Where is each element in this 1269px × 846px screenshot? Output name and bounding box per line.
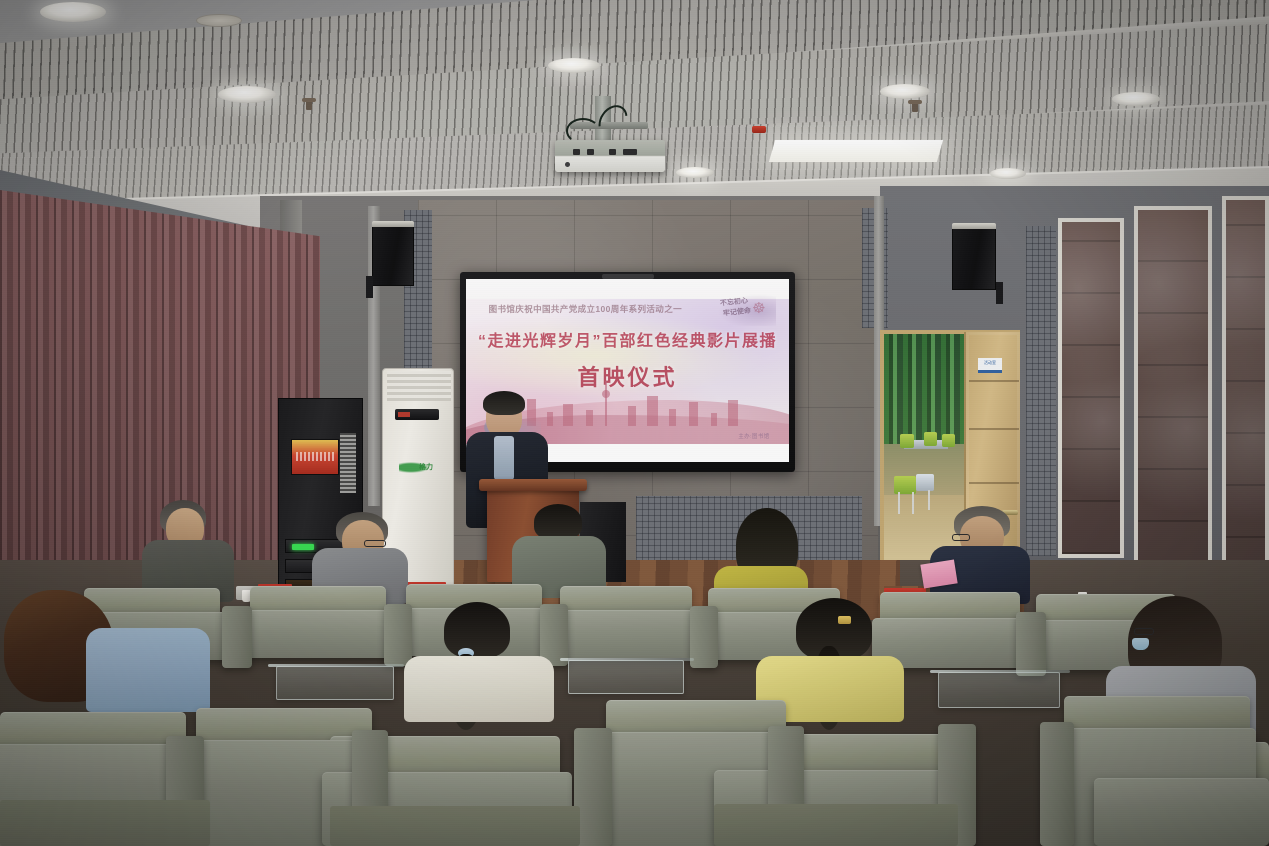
downlight-5 bbox=[1112, 92, 1160, 106]
door-groove-3 bbox=[969, 482, 1019, 484]
glass-side-table-3 bbox=[938, 672, 1060, 708]
corridor-chair-leg-1 bbox=[898, 492, 900, 514]
skyline-building-3 bbox=[547, 412, 553, 426]
ac-brand-mark: 格力 bbox=[399, 461, 433, 474]
projector-port-2 bbox=[587, 149, 594, 155]
corridor-chair-5 bbox=[916, 474, 934, 491]
slide-header-text: 图书馆庆祝中国共产党成立100周年系列活动之一 bbox=[489, 303, 728, 315]
corridor-chair-1 bbox=[900, 434, 914, 448]
projector-vga-port bbox=[623, 149, 637, 155]
attendee7-hair bbox=[444, 602, 510, 658]
downlight-1 bbox=[40, 2, 106, 22]
attendee8-hairclip bbox=[838, 616, 851, 624]
projector-port-1 bbox=[573, 149, 580, 155]
corridor-chair-3 bbox=[942, 434, 955, 447]
skyline-building-11 bbox=[728, 400, 738, 426]
decor-stone-panel-1 bbox=[1058, 218, 1124, 558]
downlight-4 bbox=[880, 84, 930, 99]
skyline-tv-tower bbox=[605, 381, 607, 426]
right-wall-speaker bbox=[952, 226, 996, 290]
slide-footer-text: 主办:图书馆 bbox=[738, 432, 769, 440]
downlight-6 bbox=[676, 167, 714, 178]
downlight-7 bbox=[990, 168, 1026, 179]
seat-base-r3-1 bbox=[0, 800, 210, 846]
presenter-shirt bbox=[494, 436, 514, 480]
corridor-chair-leg-2 bbox=[912, 492, 914, 514]
attendee9-glasses bbox=[1134, 628, 1154, 635]
attendee7-white-top bbox=[404, 656, 554, 722]
slide-title-text: “走进光辉岁月”百部红色经典影片展播 bbox=[466, 327, 789, 351]
ceiling-projector bbox=[555, 140, 665, 172]
seat-arm-r3-f bbox=[1040, 722, 1074, 846]
glass-table-rail-1 bbox=[268, 664, 404, 667]
seat-arm-r2-d bbox=[690, 606, 718, 668]
speaker-top-cap-right bbox=[952, 223, 996, 229]
seat-arm-r2-e bbox=[1016, 612, 1046, 676]
ac-display-panel bbox=[395, 409, 439, 420]
sprinkler-head-2 bbox=[912, 100, 918, 112]
seat-r2-4[interactable] bbox=[554, 610, 700, 658]
seat-base-r3-2 bbox=[330, 806, 580, 846]
projector-knob bbox=[565, 162, 570, 167]
skyline-building-6 bbox=[628, 406, 636, 426]
ceiling-vent bbox=[196, 14, 242, 27]
skyline-building-10 bbox=[711, 413, 717, 426]
seat-r2-2[interactable] bbox=[244, 610, 394, 658]
ceiling-panel-light bbox=[769, 140, 943, 162]
seat-arm-r2-b bbox=[384, 604, 412, 666]
fire-alarm-icon bbox=[752, 126, 766, 133]
corridor-green-partition bbox=[884, 334, 966, 444]
downlight-3 bbox=[548, 58, 600, 73]
glass-table-rail-2 bbox=[560, 658, 694, 661]
decor-stone-panel-2 bbox=[1134, 206, 1212, 578]
attendee6-denim-jacket bbox=[86, 628, 210, 712]
seat-r3-6[interactable] bbox=[1094, 778, 1269, 846]
attendee3-hair bbox=[534, 504, 582, 540]
attendee2-glasses bbox=[364, 540, 386, 547]
left-wall-speaker bbox=[372, 224, 414, 286]
glass-side-table-1 bbox=[276, 666, 394, 700]
skyline-building-4 bbox=[563, 404, 573, 426]
presenter-hair bbox=[483, 391, 525, 415]
right-speaker-bracket bbox=[996, 282, 1003, 304]
rack-preview-monitor bbox=[291, 439, 339, 475]
door-sign: 活动室 bbox=[978, 358, 1002, 373]
meeting-room-photo: 活动室 图书馆庆祝中国共产党成立100周年系列活动之一 不忘初心 牢记使命 ☸ bbox=[0, 0, 1269, 846]
downlight-2 bbox=[218, 86, 276, 103]
seat-base-r3-3 bbox=[714, 804, 958, 846]
wall-grid-strip-far-right bbox=[1026, 226, 1056, 556]
ceiling bbox=[0, 0, 1269, 215]
glass-side-table-2 bbox=[568, 660, 684, 694]
attendee5-glasses bbox=[952, 534, 970, 541]
skyline-building-7 bbox=[647, 396, 658, 426]
rack-vent-grille bbox=[340, 433, 356, 493]
sprinkler-head-1 bbox=[306, 98, 312, 110]
rack-status-led bbox=[292, 544, 314, 550]
glass-table-rail-3 bbox=[930, 670, 1070, 673]
podium-top-surface bbox=[479, 479, 587, 491]
corridor-chair-2 bbox=[924, 432, 937, 446]
party-emblem-icon: ☸ bbox=[752, 300, 772, 318]
door-groove-2 bbox=[969, 428, 1019, 430]
ac-top-grille bbox=[387, 371, 451, 401]
attendee9-face-mask bbox=[1132, 638, 1149, 650]
corridor-chair-leg-3 bbox=[928, 490, 930, 510]
skyline-building-5 bbox=[586, 410, 593, 426]
projector-port-3 bbox=[609, 149, 616, 155]
seat-arm-r2-a bbox=[222, 606, 252, 668]
speaker-top-cap-left bbox=[372, 221, 414, 227]
skyline-building-9 bbox=[689, 402, 698, 426]
skyline-building-8 bbox=[669, 409, 676, 426]
door-groove-1 bbox=[969, 380, 1019, 382]
slide-logo-area: 不忘初心 牢记使命 ☸ bbox=[718, 294, 776, 326]
left-speaker-bracket bbox=[366, 276, 373, 298]
decor-stone-panel-3 bbox=[1222, 196, 1269, 594]
slide-logo-line-2: 牢记使命 bbox=[723, 306, 752, 318]
